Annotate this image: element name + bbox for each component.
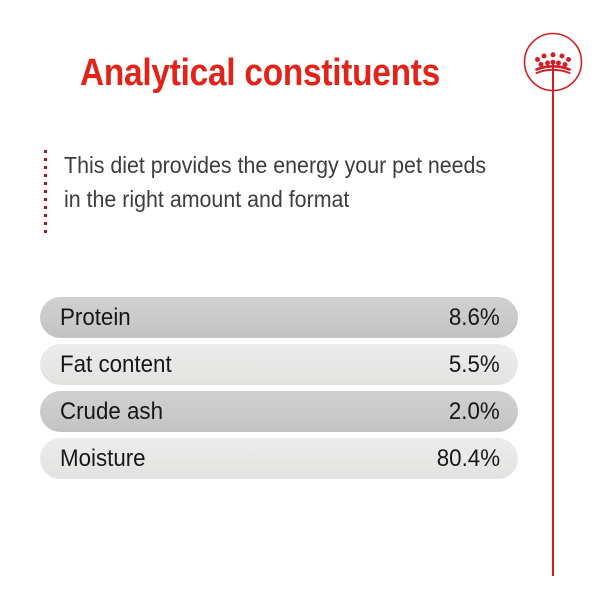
table-row: Protein 8.6% <box>40 297 518 338</box>
constituent-value: 8.6% <box>449 306 500 330</box>
constituent-value: 80.4% <box>437 447 500 471</box>
constituents-table: Protein 8.6% Fat content 5.5% Crude ash … <box>40 297 518 485</box>
subtitle-line-1: This diet provides the energy your pet n… <box>64 148 469 182</box>
logo-vertical-rule <box>552 62 554 576</box>
constituent-label: Protein <box>60 306 131 330</box>
subtitle-block: This diet provides the energy your pet n… <box>40 148 500 216</box>
table-row: Crude ash 2.0% <box>40 391 518 432</box>
constituent-label: Crude ash <box>60 400 163 424</box>
constituent-label: Moisture <box>60 447 146 471</box>
dotted-accent-rule <box>44 150 47 238</box>
subtitle-line-2: in the right amount and format <box>64 182 469 216</box>
constituent-label: Fat content <box>60 353 172 377</box>
analytical-constituents-panel: Analytical constituents This diet provid… <box>0 0 600 600</box>
table-row: Moisture 80.4% <box>40 438 518 479</box>
constituent-value: 5.5% <box>449 353 500 377</box>
subtitle-text: This diet provides the energy your pet n… <box>64 148 469 216</box>
constituent-value: 2.0% <box>449 400 500 424</box>
page-title: Analytical constituents <box>31 52 489 95</box>
table-row: Fat content 5.5% <box>40 344 518 385</box>
